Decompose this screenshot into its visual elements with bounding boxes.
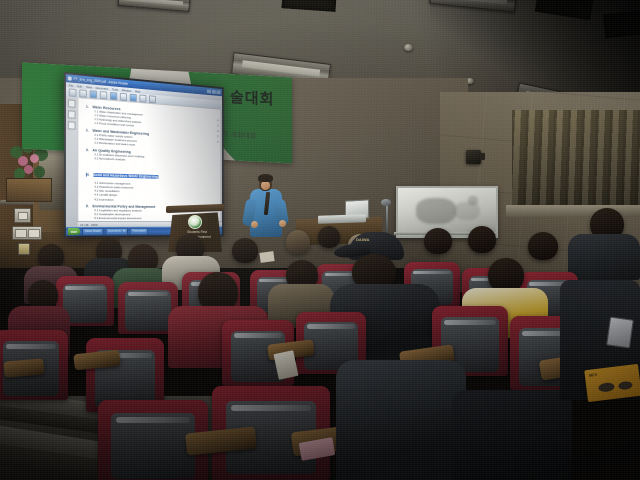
page-indicator[interactable]: 13 / 28 (80, 223, 88, 227)
start-button[interactable]: start (68, 228, 80, 235)
banner-title-tail: 술대회 (230, 86, 274, 109)
menu-window[interactable]: Window (122, 88, 132, 93)
maximize-icon[interactable] (212, 90, 216, 94)
audience-head (488, 258, 524, 292)
audience-shoulders (568, 234, 640, 280)
laptop-keyboard (318, 214, 366, 224)
presenter-hand-left (251, 221, 258, 228)
print-icon[interactable] (79, 89, 87, 98)
audience-head (286, 230, 310, 254)
product-box: MP3 (584, 364, 640, 402)
minimize-icon[interactable] (207, 89, 211, 93)
photo-scene: 2 술대회 일시 주 개최대회 PT_Env_eng_2009.pdf - Ad… (0, 0, 640, 480)
university-emblem-icon (188, 215, 202, 229)
audience-head (232, 238, 258, 263)
light-switch-panel[interactable] (12, 226, 42, 240)
foreground-person-dark (452, 390, 572, 480)
navigation-pane[interactable] (66, 96, 77, 227)
save-icon[interactable] (90, 90, 97, 98)
window-controls[interactable] (207, 89, 220, 94)
foreground-person-jeans (336, 360, 466, 480)
handout-paper (259, 251, 274, 263)
zoom-in-icon[interactable] (110, 91, 117, 99)
menu-tools[interactable]: Tools (112, 87, 118, 91)
close-icon[interactable] (217, 90, 221, 94)
wall-plaque (6, 178, 52, 202)
wall-speaker-icon (466, 150, 481, 164)
pages-icon[interactable] (68, 110, 76, 118)
menu-view[interactable]: View (86, 84, 92, 88)
presenter-hair (258, 174, 273, 182)
menu-file[interactable]: File (69, 83, 74, 87)
taskbar-item[interactable]: Presentation (130, 227, 148, 235)
prev-page-icon[interactable] (130, 93, 137, 101)
presenter-hand-right (279, 220, 286, 227)
taskbar-item[interactable]: Adobe Reader (82, 227, 104, 235)
menu-edit[interactable]: Edit (77, 84, 82, 88)
window-curtain (512, 110, 640, 208)
audience-head (318, 226, 340, 248)
page-number-column: 14 17 20 22 25 (209, 118, 218, 146)
light-switch-plate[interactable] (14, 208, 31, 223)
audience-head (468, 226, 496, 253)
outlet-plate (18, 243, 30, 255)
select-tool-icon[interactable] (100, 91, 107, 99)
next-page-icon[interactable] (139, 94, 146, 102)
presenter-face (261, 181, 270, 190)
microphone-icon (381, 199, 391, 206)
app-icon (68, 76, 72, 80)
projection-screen: PT_Env_eng_2009.pdf - Adobe Reader File … (64, 72, 224, 238)
taskbar-item[interactable]: Document1 - Mi (106, 227, 129, 235)
product-box-label: MP3 (589, 372, 598, 378)
outline-heading-text: Solid and Hazardous Waste Engineering (93, 173, 158, 179)
menu-help[interactable]: Help (135, 89, 140, 93)
open-file-icon[interactable] (69, 88, 77, 97)
outline-section-selected: 4.Solid and Hazardous Waste Engineering … (86, 163, 217, 203)
handheld-device (606, 316, 634, 348)
outline-heading-selected: 4.Solid and Hazardous Waste Engineering (86, 173, 159, 179)
page-mark: 25 (209, 139, 218, 145)
zoom-out-icon[interactable] (120, 92, 127, 100)
outline-section: 3.Air Quality Engineering 3.1 Air pollut… (86, 148, 217, 165)
bookmarks-icon[interactable] (68, 99, 76, 108)
zoom-level[interactable]: 100% (91, 223, 98, 227)
search-icon[interactable] (149, 95, 156, 103)
attachments-icon[interactable] (68, 121, 76, 129)
audience-head (528, 232, 558, 260)
audience-head (424, 228, 452, 254)
banner-subtitle-2: 주 개최대회 (222, 130, 256, 142)
microphone-stand (386, 204, 388, 234)
